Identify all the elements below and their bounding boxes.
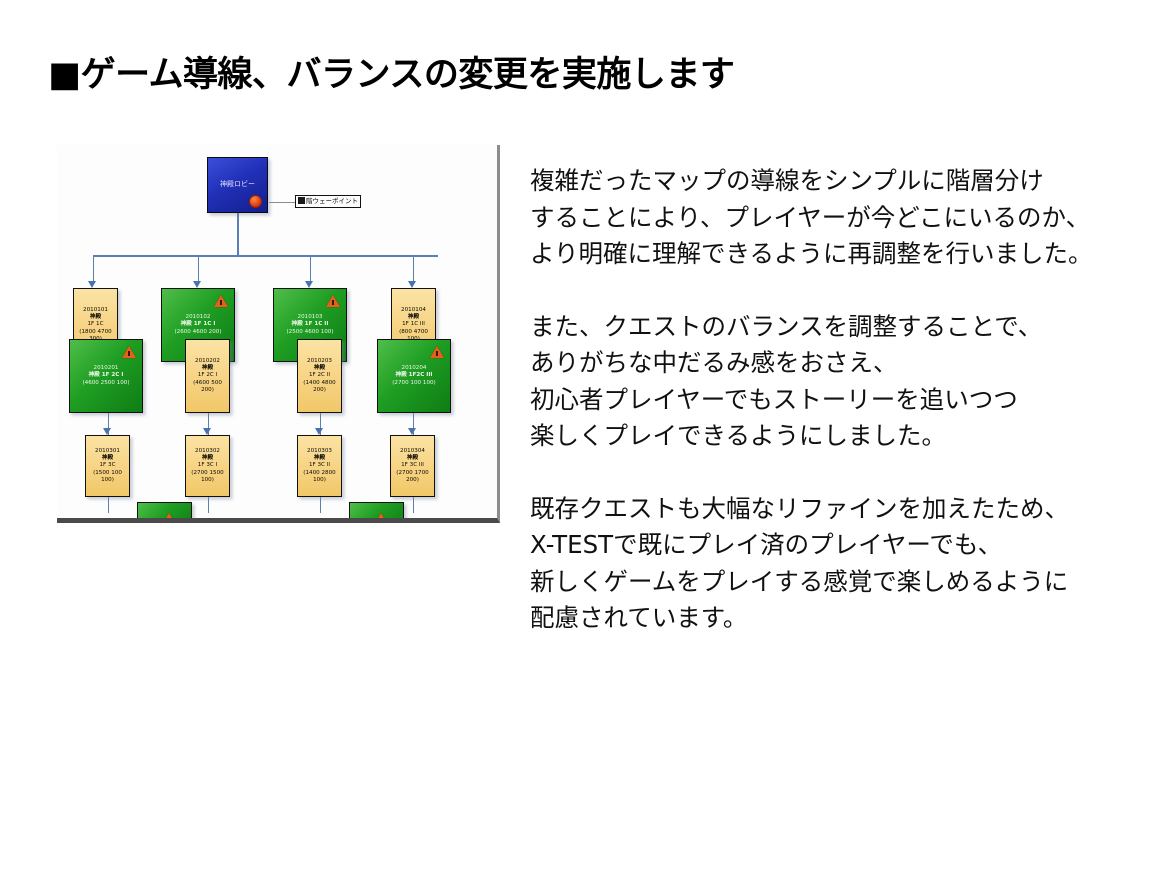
node-area: 神殿 [202,365,213,372]
connector-r4-c1 [108,497,110,513]
waypoint-leader-line [269,202,295,203]
warning-triangle-icon [430,346,444,358]
node-coords-a: (4600 500 [193,380,222,387]
node-floor: 1F 3C III [401,462,424,469]
arrow-r3-c2 [203,428,211,435]
node-id: 2010303 [307,448,332,455]
diagram-node-root[interactable]: 神殿ロビー [207,157,268,213]
node-floor: 1F 1C III [402,321,425,328]
node-area: 神殿 [202,455,213,462]
node-id: 2010101 [83,307,108,314]
node-coords-a: (2500 4600 100) [286,329,333,336]
warning-triangle-icon [374,513,388,523]
node-area: 神殿 [90,314,101,321]
waypoint-callout[interactable]: 階ウェーポイント [295,195,361,208]
diagram-node-2010301[interactable]: 2010301 神殿 1F 3C (1500 100 100) [85,435,130,497]
node-floor: 1F 2C I [198,372,217,379]
node-floor: 1F 3C I [198,462,217,469]
warning-triangle-icon [326,295,340,307]
node-coords-a: (2700 1700 [396,470,428,477]
node-area: 神殿 [314,365,325,372]
warning-triangle-icon [162,513,176,523]
paragraph-2: また、クエストのバランスを調整することで、 ありがちな中だるみ感をおさえ、 初心… [530,309,1146,455]
diagram-node-2010304[interactable]: 2010304 神殿 1F 3C III (2700 1700 200) [390,435,435,497]
node-coords-a: (1800 4700 [79,329,111,336]
waypoint-square-icon [298,197,305,204]
node-area: 神殿 [314,455,325,462]
node-coords-a: (1400 2800 [303,470,335,477]
paragraph-line: 既存クエストも大幅なリファインを加えたため、 [530,491,1146,528]
arrow-r1-c1 [88,281,96,288]
waypoint-dot-icon [249,195,262,208]
connector-bus [93,255,438,257]
paragraph-1: 複雑だったマップの導線をシンプルに階層分け することにより、プレイヤーが今どこに… [530,163,1146,273]
waypoint-label: 階ウェーポイント [306,197,358,205]
page-title: ■ゲーム導線、バランスの変更を実施します [48,46,734,97]
diagram-node-2010302[interactable]: 2010302 神殿 1F 3C I (2700 1500 100) [185,435,230,497]
diagram-node-2010201[interactable]: 2010201 神殿 1F 2C I (4600 2500 100) [69,339,143,413]
node-coords-a: (4600 2500 100) [82,380,129,387]
connector-r1-c2 [198,255,200,283]
connector-r4-c3 [320,497,322,513]
diagram-node-2010202[interactable]: 2010202 神殿 1F 2C I (4600 500 200) [185,339,230,413]
node-coords-b: 200) [406,477,419,484]
connector-r4-c4 [413,497,415,513]
warning-triangle-icon [214,295,228,307]
diagram-node-2010204[interactable]: 2010204 神殿 1F2C III (2700 100 100) [377,339,451,413]
diagram-node-2010303[interactable]: 2010303 神殿 1F 3C II (1400 2800 100) [297,435,342,497]
node-coords-a: (1400 4800 [303,380,335,387]
node-area: 神殿 1F2C III [395,372,432,379]
body-copy: 複雑だったマップの導線をシンプルに階層分け することにより、プレイヤーが今どこに… [530,163,1146,637]
connector-r1-c1 [93,255,95,283]
arrow-r3-c1 [103,428,111,435]
connector-r4-c2 [208,497,210,513]
node-label: 神殿ロビー [220,180,255,189]
node-floor: 1F 2C II [309,372,330,379]
paragraph-line: 配慮されています。 [530,600,1146,637]
arrow-r1-c4 [408,281,416,288]
node-area: 神殿 [102,455,113,462]
node-id: 2010302 [195,448,220,455]
paragraph-line: 新しくゲームをプレイする感覚で楽しめるように [530,564,1146,601]
node-floor: 1F 3C [99,462,115,469]
node-coords-b: 200) [313,387,326,394]
node-id: 2010104 [401,307,426,314]
node-coords-a: (2700 1500 [191,470,223,477]
node-id: 2010301 [95,448,120,455]
arrow-r1-c2 [193,281,201,288]
node-area: 神殿 1F 1C II [292,321,329,328]
node-coords-a: (1500 100 [93,470,122,477]
paragraph-line: 複雑だったマップの導線をシンプルに階層分け [530,163,1146,200]
connector-r1-c4 [413,255,415,283]
paragraph-line: 楽しくプレイできるようにしました。 [530,418,1146,455]
node-area: 神殿 1F 1C I [181,321,216,328]
node-coords-a: (2600 4600 200) [174,329,221,336]
node-id: 2010202 [195,358,220,365]
arrow-r3-c4 [408,428,416,435]
diagram-image: 神殿ロビー 階ウェーポイント 2010101 神殿 1F 1C (1800 47… [57,145,500,523]
node-coords-b: 200) [201,387,214,394]
node-area: 神殿 [408,314,419,321]
paragraph-line: より明確に理解できるように再調整を行いました。 [530,236,1146,273]
paragraph-line: することにより、プレイヤーが今どこにいるのか、 [530,200,1146,237]
node-floor: 1F 1C [87,321,103,328]
warning-triangle-icon [122,346,136,358]
node-coords-b: 100) [313,477,326,484]
node-coords-a: (2700 100 100) [392,380,436,387]
connector-root-stem [237,212,239,255]
paragraph-line: X-TESTで既にプレイ済のプレイヤーでも、 [530,527,1146,564]
node-coords-a: (800 4700 [399,329,428,336]
node-floor: 1F 3C II [309,462,330,469]
node-area: 神殿 [407,455,418,462]
paragraph-3: 既存クエストも大幅なリファインを加えたため、 X-TESTで既にプレイ済のプレイ… [530,491,1146,637]
arrow-r3-c3 [315,428,323,435]
paragraph-line: 初心者プレイヤーでもストーリーを追いつつ [530,382,1146,419]
arrow-r1-c3 [305,281,313,288]
node-coords-b: 100) [101,477,114,484]
slide-root: ■ゲーム導線、バランスの変更を実施します [0,0,1158,870]
node-area: 神殿 1F 2C I [89,372,124,379]
paragraph-line: また、クエストのバランスを調整することで、 [530,309,1146,346]
paragraph-line: ありがちな中だるみ感をおさえ、 [530,345,1146,382]
node-id: 2010304 [400,448,425,455]
diagram-node-clipped-b[interactable] [349,502,404,523]
diagram-canvas: 神殿ロビー 階ウェーポイント 2010101 神殿 1F 1C (1800 47… [57,145,497,518]
connector-r1-c3 [310,255,312,283]
diagram-node-clipped-a[interactable] [137,502,192,523]
diagram-node-2010203[interactable]: 2010203 神殿 1F 2C II (1400 4800 200) [297,339,342,413]
node-id: 2010203 [307,358,332,365]
node-coords-b: 100) [201,477,214,484]
